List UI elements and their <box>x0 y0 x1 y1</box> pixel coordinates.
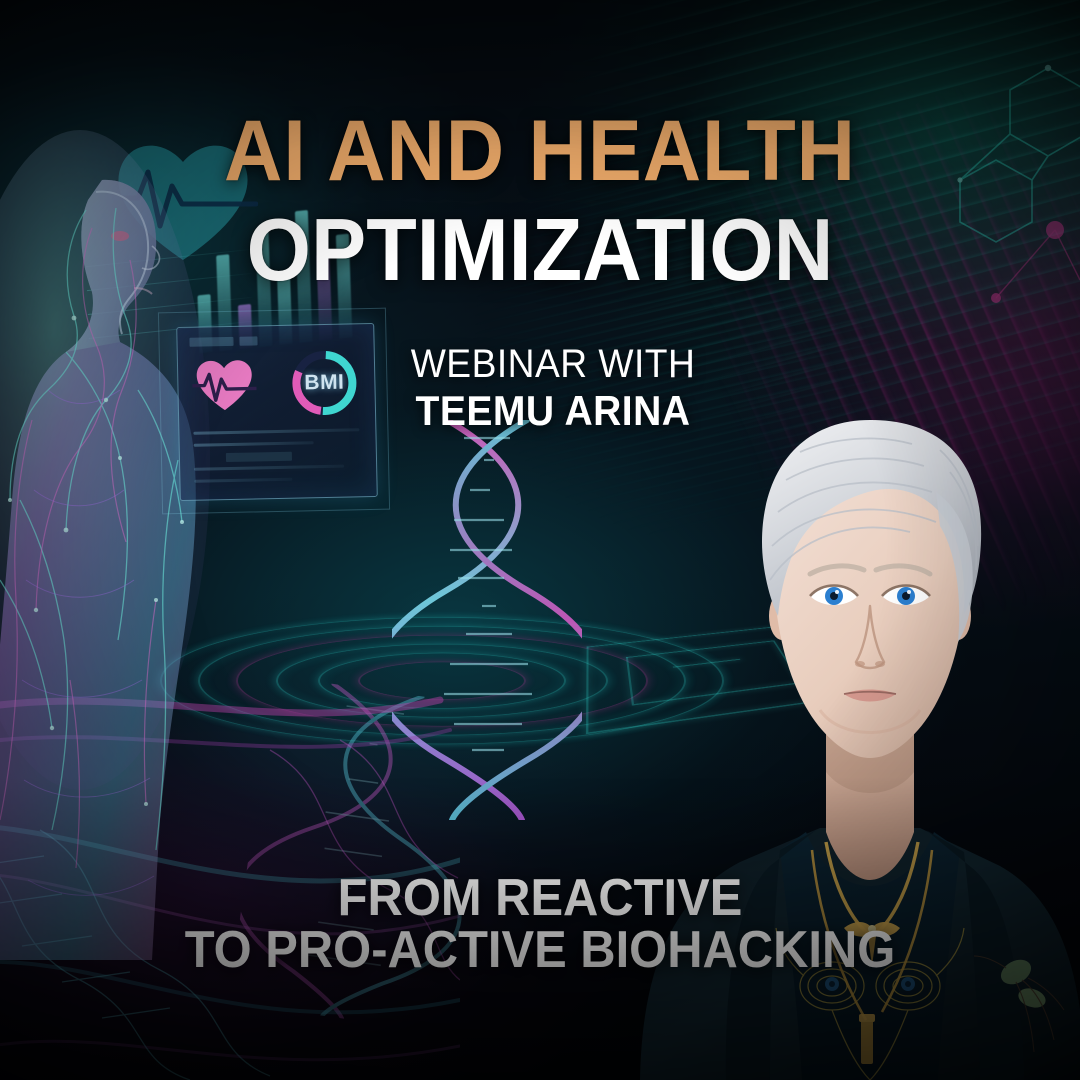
subtitle-webinar-with: WEBINAR WITH <box>51 344 1055 384</box>
page-title-line-1: AI AND HEALTH <box>32 108 1047 194</box>
page-title-line-2: OPTIMIZATION <box>32 206 1047 294</box>
tagline-line-1: FROM REACTIVE <box>32 872 1047 924</box>
webinar-promo-poster: BMI <box>0 0 1080 1080</box>
tagline-line-2: TO PRO-ACTIVE BIOHACKING <box>32 924 1047 976</box>
speaker-name: TEEMU ARINA <box>51 390 1055 432</box>
